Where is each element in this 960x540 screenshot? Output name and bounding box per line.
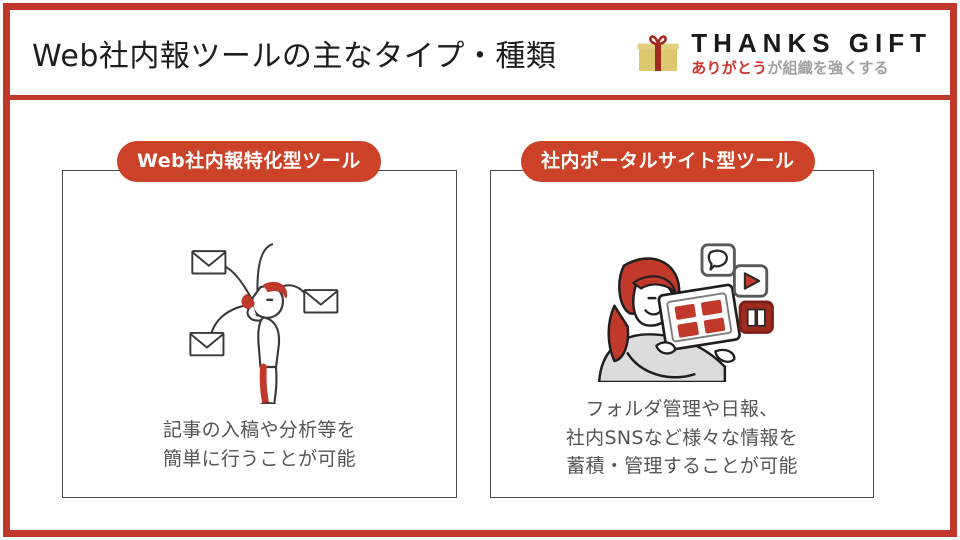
open-book-icon xyxy=(740,302,772,332)
logo-tagline-rest: が組織を強くする xyxy=(767,59,889,77)
header-divider-rule xyxy=(10,95,950,100)
page-title: Web社内報ツールの主なタイプ・種類 xyxy=(32,31,556,75)
chat-bubble-icon xyxy=(702,245,734,275)
logo-wordmark: THANKS GIFT xyxy=(691,30,932,56)
person-sending-mail-illustration xyxy=(63,211,456,411)
card-left-caption: 記事の入稿や分析等を 簡単に行うことが可能 xyxy=(63,416,456,473)
brand-logo: THANKS GIFT ありがとうが組織を強くする xyxy=(635,30,932,76)
slide-header: Web社内報ツールの主なタイプ・種類 THANKS GIFT ありがとうが組織を… xyxy=(10,10,950,96)
logo-tagline: ありがとうが組織を強くする xyxy=(691,61,932,76)
play-button-icon xyxy=(734,266,766,296)
tool-type-card-left: 記事の入稿や分析等を 簡単に行うことが可能 xyxy=(62,170,457,498)
caption-line: 記事の入稿や分析等を xyxy=(63,416,456,445)
logo-tagline-accent: ありがとう xyxy=(691,59,767,77)
slide-canvas: Web社内報ツールの主なタイプ・種類 THANKS GIFT ありがとうが組織を… xyxy=(0,0,960,540)
caption-line: 社内SNSなど様々な情報を xyxy=(491,424,873,453)
caption-line: 蓄積・管理することが可能 xyxy=(491,452,873,481)
gift-box-icon xyxy=(635,30,681,76)
woman-with-tablet-illustration xyxy=(491,223,873,398)
logo-text-block: THANKS GIFT ありがとうが組織を強くする xyxy=(691,30,932,76)
caption-line: 簡単に行うことが可能 xyxy=(63,445,456,474)
card-left-badge: Web社内報特化型ツール xyxy=(117,141,381,182)
card-right-badge: 社内ポータルサイト型ツール xyxy=(521,141,815,182)
caption-line: フォルダ管理や日報、 xyxy=(491,395,873,424)
tool-type-card-right: フォルダ管理や日報、 社内SNSなど様々な情報を 蓄積・管理することが可能 xyxy=(490,170,874,498)
card-right-caption: フォルダ管理や日報、 社内SNSなど様々な情報を 蓄積・管理することが可能 xyxy=(491,395,873,481)
